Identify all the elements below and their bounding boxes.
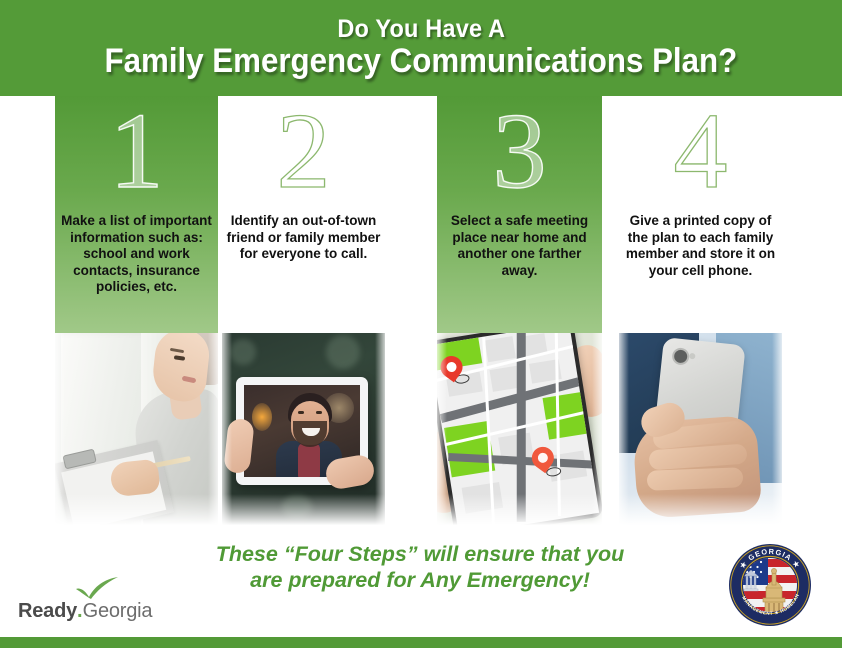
step-photo-2 [222, 333, 385, 528]
step-card-3: 3 Select a safe meeting place near home … [437, 96, 602, 528]
step-numeral-2: 2 [222, 98, 385, 206]
photo4-camera-lens [671, 347, 690, 366]
photo1-hand [109, 459, 160, 498]
photo2-screen-glow [252, 403, 272, 431]
photo2-bokeh [230, 339, 256, 365]
step-photo-3 [437, 333, 602, 528]
photo1-fade-bottom [55, 494, 218, 528]
footer-bar [0, 637, 842, 648]
step-photo-1 [55, 333, 218, 528]
photo4-finger [647, 467, 744, 490]
photo2-fade-bottom [222, 494, 385, 528]
tagline-line-1: These “Four Steps” will ensure that you [110, 541, 730, 567]
step-card-4: 4 Give a printed copy of the plan to eac… [619, 96, 782, 528]
photo4-fade-bottom [619, 494, 782, 528]
ready-georgia-logo: Ready.Georgia [18, 578, 168, 630]
tagline: These “Four Steps” will ensure that you … [110, 541, 730, 593]
map-pin-dot [536, 451, 550, 465]
step-numeral-1: 1 [55, 98, 218, 206]
step-card-1: 1 Make a list of important information s… [55, 96, 218, 528]
step-photo-4 [619, 333, 782, 528]
gema-homeland-security-seal: ★ GEORGIA ★ EMERGENCY MANAGEMENT ★ HOMEL… [728, 543, 812, 627]
step-text-1: Make a list of important information suc… [57, 213, 216, 296]
photo2-caller-eye [316, 411, 322, 414]
seal-graphic: ★ GEORGIA ★ EMERGENCY MANAGEMENT ★ HOMEL… [728, 543, 812, 627]
step-numeral-3: 3 [437, 98, 602, 206]
step-text-3: Select a safe meeting place near home an… [439, 213, 600, 279]
step-text-4: Give a printed copy of the plan to each … [621, 213, 780, 279]
header-line-1-rest: Have A [425, 15, 505, 43]
poster-header: Do You Have A Family Emergency Communica… [0, 0, 842, 96]
photo2-caller-shirt [298, 443, 320, 477]
photo4-camera-flash [689, 353, 696, 360]
header-line-1-emphasis: Do You [337, 15, 425, 43]
step-numeral-4: 4 [619, 98, 782, 206]
infographic-poster: Do You Have A Family Emergency Communica… [0, 0, 842, 648]
georgia-word: Georgia [83, 600, 153, 622]
photo3-fade-bottom [437, 494, 602, 528]
header-line-1: Do You Have A [337, 16, 505, 42]
ready-word: Ready [18, 600, 77, 622]
steps-row: 1 Make a list of important information s… [0, 96, 842, 536]
header-line-2: Family Emergency Communications Plan? [105, 44, 738, 80]
step-text-2: Identify an out-of-town friend or family… [224, 213, 383, 263]
step-card-2: 2 Identify an out-of-town friend or fami… [222, 96, 385, 528]
photo2-caller-eye [298, 411, 304, 414]
photo2-bokeh [326, 335, 360, 369]
ready-georgia-wordmark: Ready.Georgia [18, 600, 168, 622]
tagline-line-2: are prepared for Any Emergency! [110, 567, 730, 593]
map-block [485, 336, 516, 362]
